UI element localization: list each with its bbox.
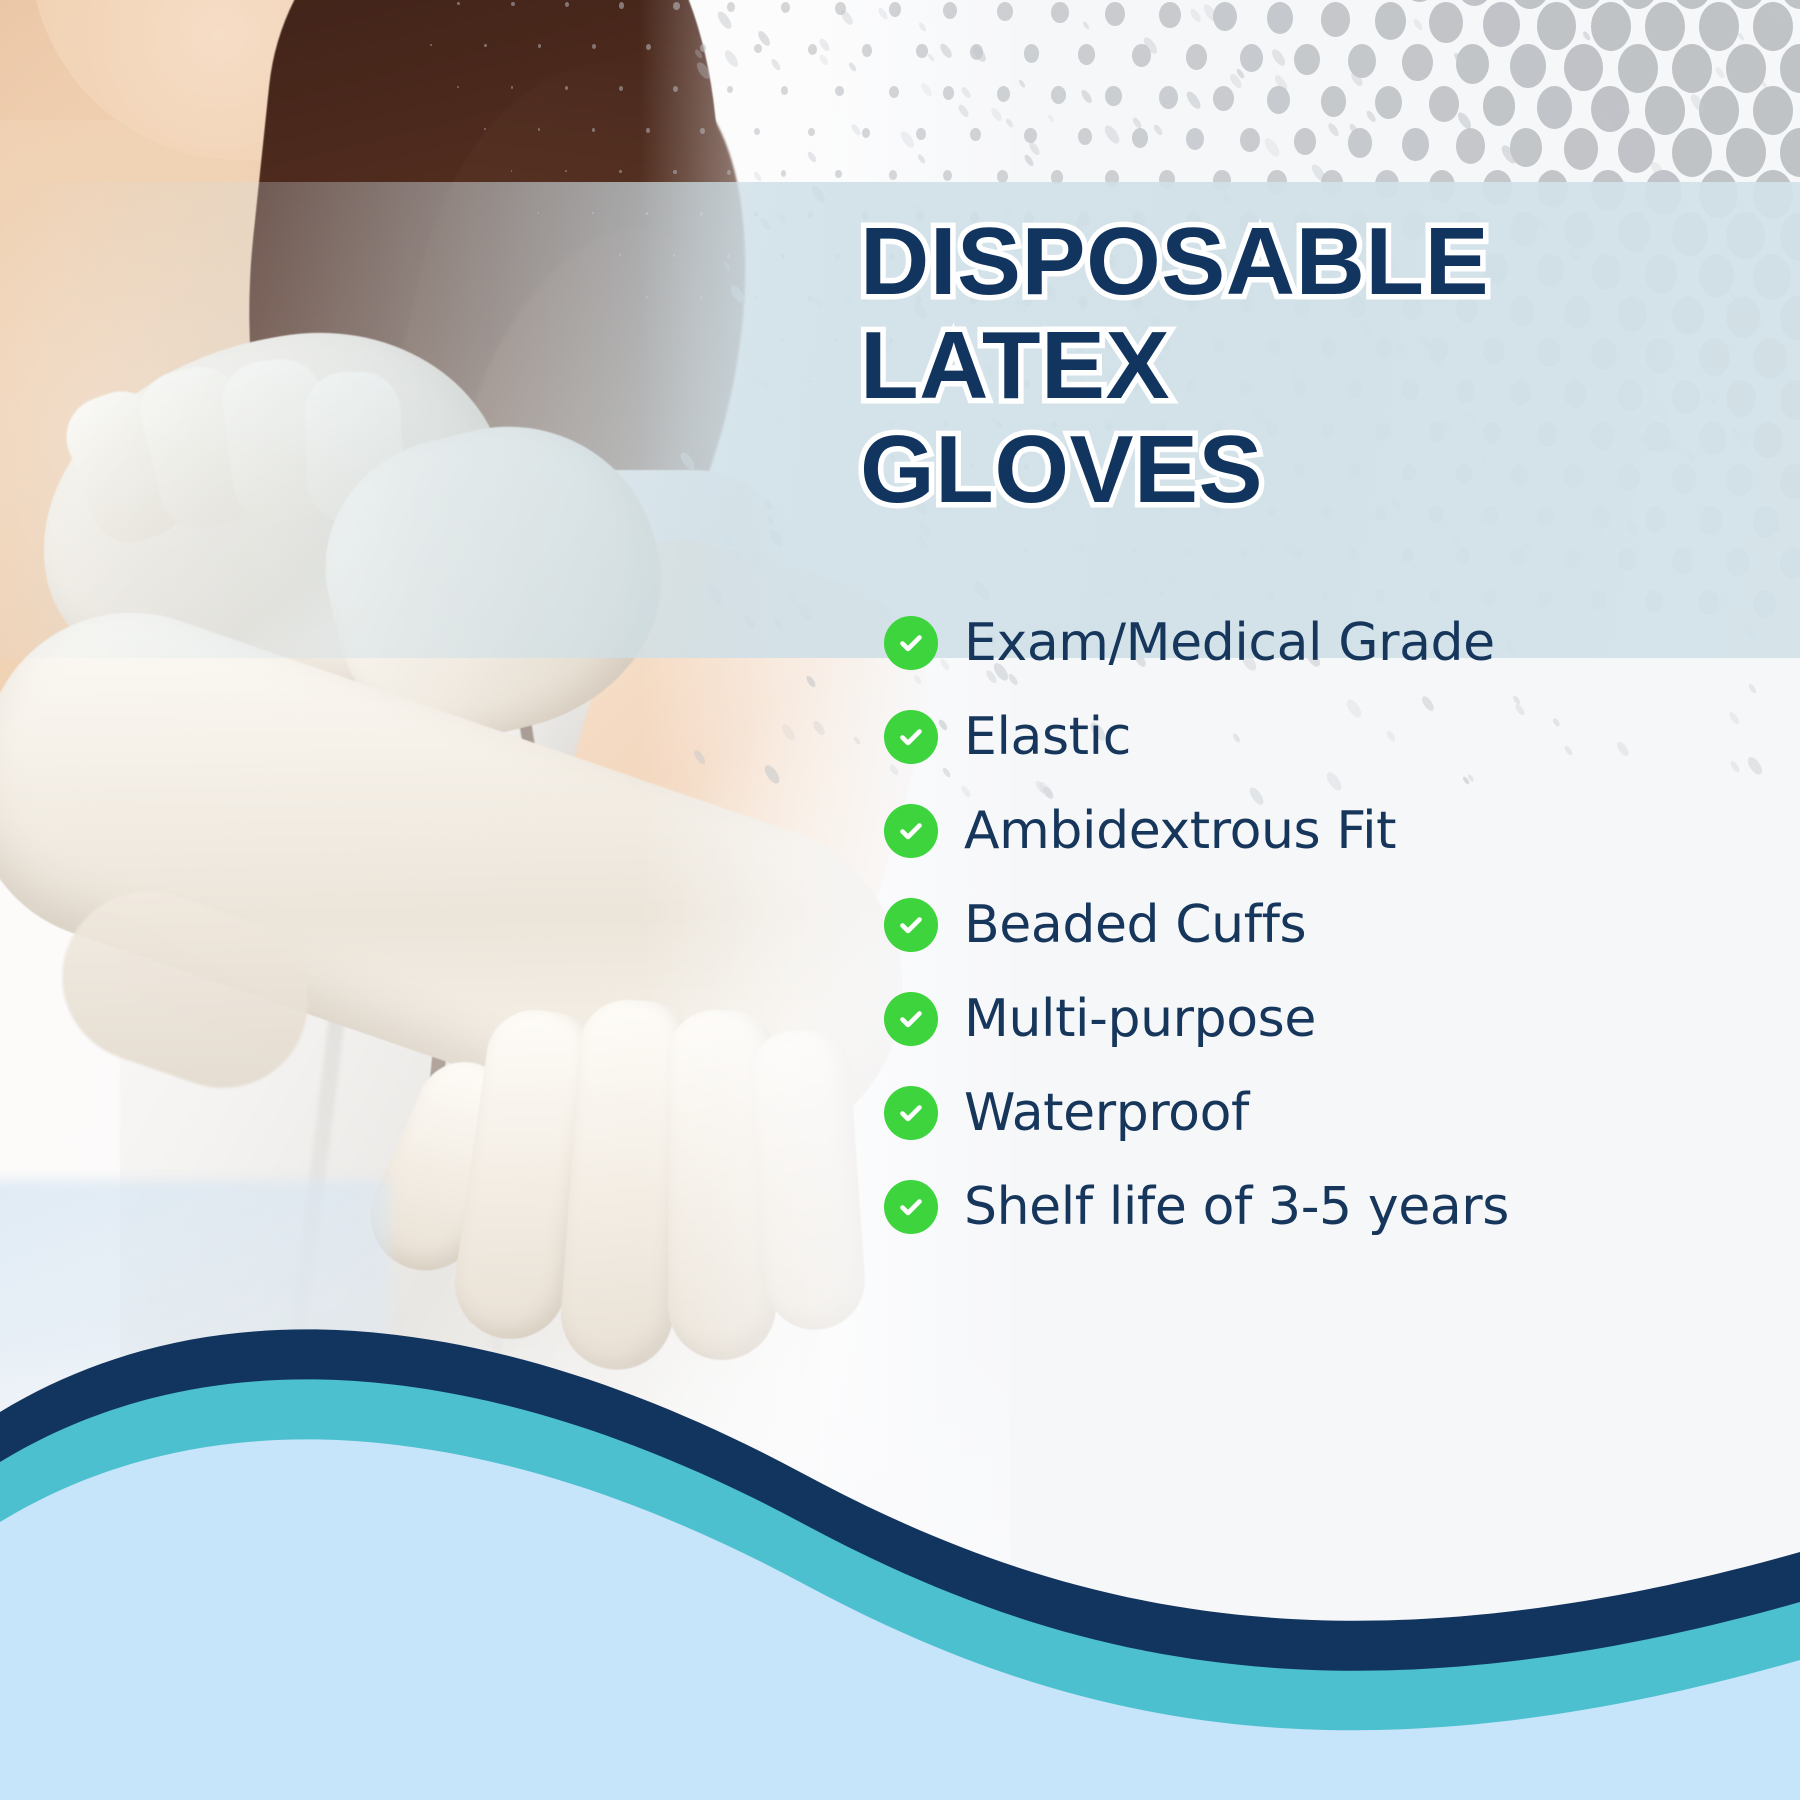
speck-dot [1080, 89, 1094, 105]
halftone-dot [1186, 128, 1204, 150]
halftone-dot [1159, 2, 1181, 28]
halftone-dot [1051, 2, 1069, 23]
speck-dot [1649, 160, 1666, 180]
speck-dot [1714, 65, 1727, 79]
speck-dot [1772, 11, 1784, 25]
speck-dot [1348, 123, 1360, 137]
halftone-dot [1348, 128, 1372, 158]
halftone-dot [1186, 44, 1207, 70]
halftone-dot [1672, 0, 1712, 9]
halftone-dot [1402, 44, 1433, 81]
speck-dot [1737, 32, 1746, 42]
halftone-dot [1429, 2, 1463, 43]
halftone-dot [1726, 44, 1766, 93]
halftone-dot [1456, 0, 1493, 6]
halftone-dot [1537, 86, 1572, 129]
feature-item: Multi-purpose [884, 990, 1744, 1048]
feature-item: Beaded Cuffs [884, 896, 1744, 954]
halftone-dot [1051, 86, 1066, 104]
speck-dot [1018, 79, 1027, 89]
halftone-dot [1510, 0, 1550, 9]
speck-dot [1529, 53, 1541, 67]
halftone-dot [1402, 0, 1437, 2]
bottom-wave-decoration [0, 1240, 1800, 1800]
feature-item: Elastic [884, 708, 1744, 766]
feature-item: Ambidextrous Fit [884, 802, 1744, 860]
halftone-dot [1375, 2, 1406, 40]
speck-dot [1273, 73, 1290, 92]
halftone-dot [1294, 44, 1320, 75]
halftone-dot [1483, 86, 1515, 126]
halftone-dot [1591, 86, 1629, 132]
halftone-dot [1213, 86, 1234, 111]
halftone-dot [1672, 44, 1712, 93]
title-line-3: GLOVES [860, 422, 1760, 518]
feature-item: Waterproof [884, 1084, 1744, 1142]
halftone-dot [1078, 128, 1092, 145]
speck-dot [1236, 68, 1247, 80]
check-circle-icon [884, 1180, 938, 1234]
halftone-dot [1240, 128, 1260, 152]
halftone-dot [1456, 44, 1489, 84]
feature-item: Exam/Medical Grade [884, 614, 1744, 672]
speck-dot [1490, 101, 1499, 111]
speck-dot [1027, 141, 1042, 158]
feature-label: Shelf life of 3-5 years [964, 1177, 1509, 1237]
check-circle-icon [884, 804, 938, 858]
halftone-dot [1105, 86, 1122, 106]
halftone-dot [1618, 128, 1655, 173]
speck-dot [1201, 2, 1220, 23]
speck-dot [1601, 116, 1614, 131]
halftone-dot [1267, 2, 1293, 34]
halftone-dot [1699, 86, 1739, 135]
halftone-dot [1321, 2, 1350, 37]
halftone-dot [1510, 128, 1542, 167]
speck-dot [1621, 104, 1632, 116]
halftone-dot [1132, 128, 1148, 148]
page-title: DISPOSABLE LATEX GLOVES [860, 214, 1760, 526]
check-circle-icon [884, 992, 938, 1046]
halftone-dot [1780, 128, 1800, 177]
speck-dot [1184, 89, 1203, 111]
speck-dot [1309, 162, 1328, 183]
halftone-dot [1699, 2, 1739, 51]
halftone-dot [1645, 86, 1685, 135]
check-circle-icon [884, 898, 938, 952]
speck-dot [1748, 682, 1759, 694]
speck-dot [1499, 143, 1519, 165]
halftone-dot [1537, 2, 1576, 50]
feature-label: Multi-purpose [964, 989, 1316, 1049]
halftone-dot [1402, 128, 1429, 161]
speck-dot [1689, 92, 1708, 113]
speck-dot [1412, 17, 1424, 31]
halftone-dot [1780, 0, 1800, 9]
halftone-dot [1267, 86, 1290, 114]
halftone-dot [1564, 128, 1598, 170]
halftone-dot [1213, 2, 1237, 31]
halftone-dot [1024, 44, 1039, 63]
speck-dot [1657, 102, 1673, 120]
halftone-dot [1024, 128, 1037, 143]
feature-label: Waterproof [964, 1083, 1249, 1143]
halftone-dot [1753, 86, 1793, 135]
speck-dot [1326, 121, 1341, 138]
feature-label: Ambidextrous Fit [964, 801, 1396, 861]
product-infographic: DISPOSABLE LATEX GLOVES Exam/Medical Gra… [0, 0, 1800, 1800]
speck-dot [1262, 136, 1282, 159]
halftone-dot [1645, 2, 1685, 51]
halftone-dot [1510, 44, 1546, 88]
halftone-dot [1132, 44, 1151, 67]
title-line-1: DISPOSABLE [860, 214, 1760, 310]
speck-dot [1452, 51, 1465, 66]
halftone-dot [1321, 86, 1346, 117]
halftone-dot [1618, 44, 1658, 93]
halftone-dot [1780, 44, 1800, 93]
halftone-dot [1375, 86, 1402, 119]
check-circle-icon [884, 1086, 938, 1140]
speck-dot [1349, 70, 1365, 88]
speck-dot [1365, 110, 1377, 124]
halftone-dot [1240, 44, 1263, 72]
check-circle-icon [884, 710, 938, 764]
speck-dot [1131, 116, 1142, 129]
feature-list: Exam/Medical GradeElasticAmbidextrous Fi… [884, 614, 1744, 1272]
feature-label: Elastic [964, 707, 1131, 767]
feature-label: Beaded Cuffs [964, 895, 1306, 955]
speck-dot [1456, 110, 1474, 131]
halftone-dot [1078, 44, 1095, 65]
halftone-dot [1591, 2, 1631, 51]
halftone-dot [1456, 128, 1485, 164]
halftone-dot [1564, 44, 1603, 91]
halftone-dot [1294, 128, 1316, 155]
check-circle-icon [884, 616, 938, 670]
speck-dot [1760, 80, 1769, 90]
title-line-2: LATEX [860, 318, 1760, 414]
halftone-dot [1618, 0, 1658, 9]
speck-dot [1141, 35, 1160, 56]
speck-dot [1082, 21, 1090, 31]
speck-dot [1745, 755, 1764, 777]
speck-dot [1022, 154, 1034, 168]
speck-dot [1228, 72, 1244, 90]
feature-label: Exam/Medical Grade [964, 613, 1495, 673]
feature-item: Shelf life of 3-5 years [884, 1178, 1744, 1236]
speck-dot [1782, 112, 1792, 123]
speck-dot [1270, 47, 1288, 68]
halftone-dot [1753, 2, 1793, 51]
halftone-dot [1483, 2, 1520, 47]
halftone-dot [1105, 2, 1125, 26]
halftone-dot [1429, 86, 1459, 122]
halftone-dot [1159, 86, 1178, 109]
halftone-dot [1672, 128, 1712, 177]
speck-dot [1582, 31, 1591, 41]
halftone-dot [1726, 128, 1766, 177]
speck-dot [1152, 124, 1163, 137]
halftone-dot [1564, 0, 1604, 9]
halftone-dot [1726, 0, 1766, 9]
speck-dot [1047, 113, 1055, 122]
speck-dot [1188, 8, 1202, 24]
speck-dot [1102, 123, 1122, 146]
halftone-dot [1348, 44, 1376, 78]
